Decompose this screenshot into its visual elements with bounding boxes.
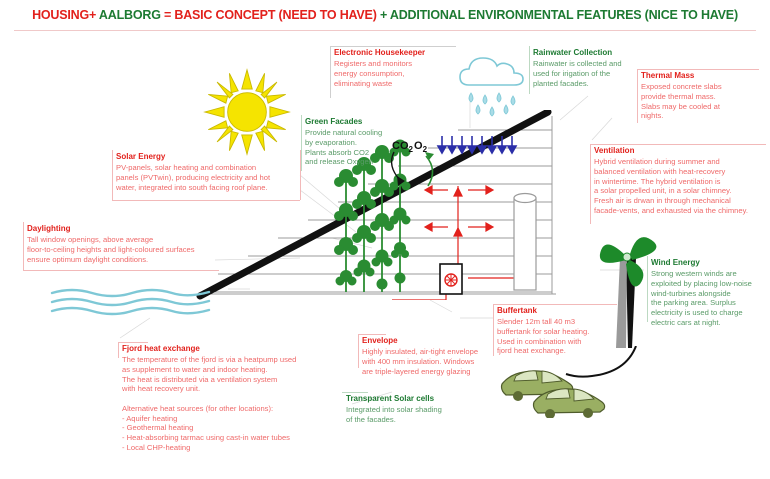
leader-green-facades [301, 115, 302, 171]
title-part-features: + ADDITIONAL ENVIRONMENTAL FEATURES (NIC… [380, 8, 738, 22]
callout-heading: Transparent Solar cells [346, 394, 486, 404]
callout-body: The temperature of the fjord is via a he… [122, 355, 362, 452]
callout-heading: Fjord heat exchange [122, 344, 362, 354]
leader-wind-energy [647, 256, 648, 322]
callout-green-facades: Green Facades Provide natural cooling by… [305, 117, 420, 167]
leader-thermal-mass [637, 69, 638, 123]
callout-heading: Daylighting [27, 224, 227, 234]
leader-rainwater [529, 46, 530, 94]
callout-ventilation: Ventilation Hybrid ventilation during su… [594, 146, 770, 216]
callout-electronic-housekeeper: Electronic Housekeeper Registers and mon… [334, 48, 454, 88]
leader-solar-energy [112, 150, 113, 200]
page-title: HOUSING+ AALBORG = BASIC CONCEPT (NEED T… [0, 8, 770, 22]
buffer-tank-icon [514, 194, 536, 291]
callout-heading: Thermal Mass [641, 71, 759, 81]
callout-heading: Electronic Housekeeper [334, 48, 454, 58]
leader-electronic-housekeeper-top [330, 46, 456, 47]
callout-daylighting: Daylighting Tall window openings, above … [27, 224, 227, 264]
callout-solar-energy: Solar Energy PV-panels, solar heating an… [116, 152, 298, 192]
callout-heading: Green Facades [305, 117, 420, 127]
leader-electronic-housekeeper [330, 46, 331, 98]
leader-solar-energy-right [300, 150, 301, 200]
leader-daylighting-bottom [23, 270, 219, 271]
leader-ventilation-top [590, 144, 766, 145]
callout-thermal-mass: Thermal Mass Exposed concrete slabs prov… [641, 71, 759, 121]
electric-cars-icon [498, 360, 608, 418]
leader-solar-energy-bottom [112, 200, 300, 201]
leader-ventilation [590, 144, 591, 224]
callout-body: Slender 12m tall 40 m3 buffertank for so… [497, 317, 617, 356]
leader-fjord-top [118, 342, 148, 343]
callout-envelope: Envelope Highly insulated, air-tight env… [362, 336, 514, 376]
callout-transparent-solar-cells: Transparent Solar cells Integrated into … [346, 394, 486, 425]
callout-heading: Solar Energy [116, 152, 298, 162]
leader-thermal-mass-top [637, 69, 759, 70]
title-part-housing: HOUSING+ [32, 8, 96, 22]
title-divider [14, 30, 756, 31]
heat-pump-icon [440, 264, 462, 294]
callout-fjord-heat-exchange: Fjord heat exchange The temperature of t… [122, 344, 362, 452]
callout-body: Exposed concrete slabs provide thermal m… [641, 82, 759, 121]
callout-body: Strong western winds are exploited by pl… [651, 269, 767, 327]
callout-heading: Ventilation [594, 146, 770, 156]
callout-heading: Wind Energy [651, 258, 767, 268]
callout-body: Highly insulated, air-tight envelope wit… [362, 347, 514, 376]
leader-fjord [118, 342, 119, 358]
callout-wind-energy: Wind Energy Strong western winds are exp… [651, 258, 767, 328]
callout-body: Provide natural cooling by evaporation. … [305, 128, 420, 167]
callout-body: Hybrid ventilation during summer and bal… [594, 157, 770, 215]
callout-body: Tall window openings, above average floo… [27, 235, 227, 264]
callout-buffertank: Buffertank Slender 12m tall 40 m3 buffer… [497, 306, 617, 356]
callout-body: PV-panels, solar heating and combination… [116, 163, 298, 192]
leader-daylighting [23, 222, 24, 270]
leader-envelope-top [358, 334, 386, 335]
leader-buffertank-top [493, 304, 617, 305]
infographic-canvas: HOUSING+ AALBORG = BASIC CONCEPT (NEED T… [0, 0, 770, 479]
title-part-basic: = BASIC CONCEPT (NEED TO HAVE) [164, 8, 377, 22]
callout-heading: Rainwater Collection [533, 48, 655, 58]
callout-body: Registers and monitors energy consumptio… [334, 59, 454, 88]
title-part-aalborg: AALBORG [99, 8, 161, 22]
callout-heading: Buffertank [497, 306, 617, 316]
callout-body: Integrated into solar shading of the fac… [346, 405, 486, 424]
water-waves-icon [48, 286, 213, 320]
callout-heading: Envelope [362, 336, 514, 346]
